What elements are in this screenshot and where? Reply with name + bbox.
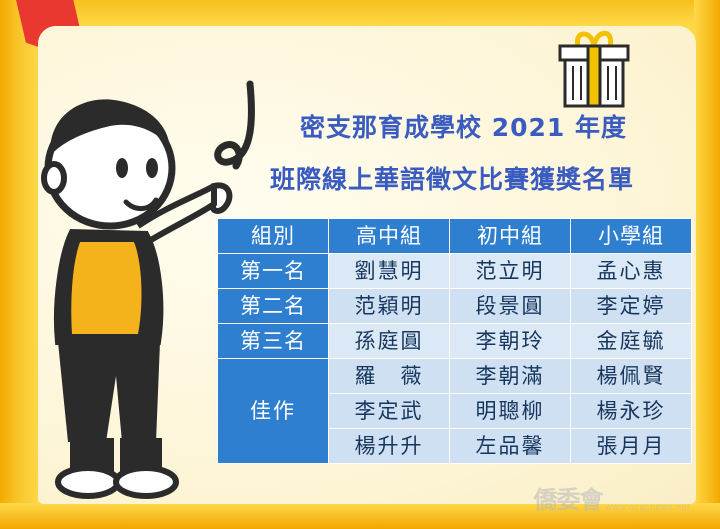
rank-label: 第二名 [218, 289, 329, 324]
table-row: 第三名 孫庭圓 李朝玲 金庭毓 [218, 324, 692, 359]
winner-name: 羅 薇 [329, 359, 450, 394]
frame-top-border [0, 0, 720, 26]
winner-name: 范立明 [450, 254, 571, 289]
watermark-url: www.ocacnews.net [605, 502, 690, 512]
winner-name: 楊永珍 [571, 394, 692, 429]
table-header-senior: 高中組 [329, 219, 450, 254]
table-row: 第二名 范穎明 段景圓 李定婷 [218, 289, 692, 324]
winner-name: 段景圓 [450, 289, 571, 324]
table-header-rank: 組別 [218, 219, 329, 254]
winner-name: 李朝滿 [450, 359, 571, 394]
winner-name: 李定婷 [571, 289, 692, 324]
winner-name: 張月月 [571, 429, 692, 464]
watermark-logo: 僑委會 [533, 480, 602, 515]
winners-table: 組別 高中組 初中組 小學組 第一名 劉慧明 范立明 孟心惠 第二名 范穎明 段… [217, 218, 692, 464]
winner-name: 楊佩賢 [571, 359, 692, 394]
slide-canvas: 密支那育成學校 2021 年度 班際線上華語徵文比賽獲獎名單 組別 高中組 初中… [0, 0, 720, 529]
table-header-junior: 初中組 [450, 219, 571, 254]
watermark: 僑委會 www.ocacnews.net [533, 480, 690, 515]
frame-right-border [694, 0, 720, 529]
winner-name: 劉慧明 [329, 254, 450, 289]
title-line-2: 班際線上華語徵文比賽獲獎名單 [270, 160, 634, 196]
winner-name: 金庭毓 [571, 324, 692, 359]
winner-name: 范穎明 [329, 289, 450, 324]
winner-name: 明聰柳 [450, 394, 571, 429]
table-header-primary: 小學組 [571, 219, 692, 254]
title-line-1: 密支那育成學校 2021 年度 [300, 108, 627, 144]
winner-name: 孫庭圓 [329, 324, 450, 359]
winner-name: 孟心惠 [571, 254, 692, 289]
table-row: 第一名 劉慧明 范立明 孟心惠 [218, 254, 692, 289]
gift-box-icon [548, 24, 640, 112]
rank-label-merit: 佳作 [218, 359, 329, 464]
rank-label: 第一名 [218, 254, 329, 289]
table-row-merit: 佳作 羅 薇 李朝滿 楊佩賢 [218, 359, 692, 394]
winner-name: 左品馨 [450, 429, 571, 464]
winner-name: 李定武 [329, 394, 450, 429]
winner-name: 楊升升 [329, 429, 450, 464]
table-header-row: 組別 高中組 初中組 小學組 [218, 219, 692, 254]
rank-label: 第三名 [218, 324, 329, 359]
winner-name: 李朝玲 [450, 324, 571, 359]
